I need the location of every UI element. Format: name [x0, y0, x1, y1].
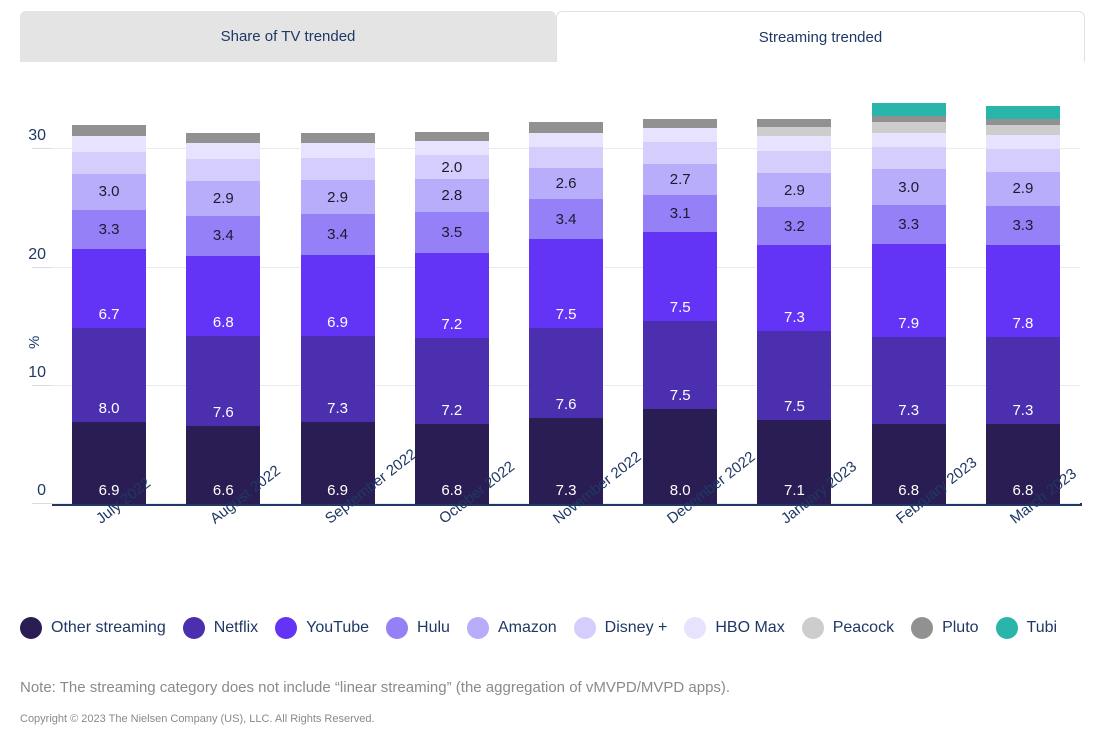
legend-item-label: HBO Max — [715, 619, 784, 637]
bar-segment-peacock[interactable] — [986, 125, 1060, 136]
bar-segment-amazon[interactable]: 2.9 — [986, 172, 1060, 206]
bar-segment-hbo-max[interactable] — [415, 141, 489, 155]
bar-segment-value: 7.5 — [556, 307, 577, 322]
bar-segment-netflix[interactable]: 7.6 — [529, 328, 603, 418]
legend-item-label: Pluto — [942, 619, 978, 637]
bar-segment-value: 6.7 — [99, 307, 120, 322]
bar-segment-value: 7.3 — [1012, 403, 1033, 418]
bar-segment-value: 3.3 — [1012, 218, 1033, 233]
plot-area: 01020306.98.06.73.33.0July 20226.67.66.8… — [52, 102, 1080, 504]
legend-swatch-icon — [183, 617, 205, 639]
bar-segment-hulu[interactable]: 3.4 — [529, 199, 603, 239]
legend-swatch-icon — [386, 617, 408, 639]
legend-item-other-streaming[interactable]: Other streaming — [20, 617, 166, 639]
legend-swatch-icon — [996, 617, 1018, 639]
legend-item-pluto[interactable]: Pluto — [911, 617, 978, 639]
legend-item-label: Disney + — [605, 619, 668, 637]
bar-segment-value: 3.2 — [784, 219, 805, 234]
bar-segment-hbo-max[interactable] — [872, 133, 946, 147]
bar-segment-pluto[interactable] — [643, 119, 717, 128]
bar-segment-value: 2.9 — [784, 183, 805, 198]
bar-segment-hbo-max[interactable] — [529, 133, 603, 147]
y-axis-title: % — [26, 336, 43, 349]
chart-container: % 01020306.98.06.73.33.0July 20226.67.66… — [0, 62, 1109, 592]
bar-stack[interactable]: 7.37.67.53.42.6 — [529, 122, 603, 504]
bar-segment-tubi[interactable] — [986, 106, 1060, 119]
legend-item-peacock[interactable]: Peacock — [802, 617, 894, 639]
bar-segment-netflix[interactable]: 7.6 — [186, 336, 260, 426]
legend-item-hulu[interactable]: Hulu — [386, 617, 450, 639]
bar-segment-hulu[interactable]: 3.3 — [986, 206, 1060, 245]
bar-segment-value: 3.0 — [99, 184, 120, 199]
bar-segment-disney[interactable] — [186, 159, 260, 181]
legend-item-label: Hulu — [417, 619, 450, 637]
bar-segment-value: 3.4 — [213, 228, 234, 243]
copyright-text: Copyright © 2023 The Nielsen Company (US… — [20, 713, 375, 725]
bar-segment-hbo-max[interactable] — [72, 136, 146, 151]
bar-segment-amazon[interactable]: 3.0 — [872, 169, 946, 204]
bar-segment-value: 3.3 — [99, 222, 120, 237]
bar-segment-youtube[interactable]: 7.5 — [643, 232, 717, 321]
legend-item-label: Netflix — [214, 619, 258, 637]
bar-segment-hulu[interactable]: 3.4 — [301, 214, 375, 254]
legend-swatch-icon — [275, 617, 297, 639]
bar-segment-pluto[interactable] — [872, 116, 946, 122]
legend-swatch-icon — [20, 617, 42, 639]
tab-label: Share of TV trended — [221, 28, 356, 45]
y-axis-tick-mark — [32, 148, 52, 149]
bar-segment-value: 3.3 — [898, 217, 919, 232]
bar-segment-value: 8.0 — [99, 401, 120, 416]
bar-segment-value: 3.5 — [441, 225, 462, 240]
bar-segment-amazon[interactable]: 2.7 — [643, 164, 717, 196]
tab-streaming-trended[interactable]: Streaming trended — [556, 11, 1085, 62]
legend-swatch-icon — [684, 617, 706, 639]
bar-segment-value: 7.6 — [556, 397, 577, 412]
legend-item-tubi[interactable]: Tubi — [996, 617, 1058, 639]
bar-segment-amazon[interactable]: 3.0 — [72, 174, 146, 209]
legend-item-hbo-max[interactable]: HBO Max — [684, 617, 784, 639]
bar-segment-value: 6.9 — [327, 315, 348, 330]
bar-stack[interactable]: 6.87.37.93.33.0 — [872, 103, 946, 504]
bar-segment-value: 2.9 — [327, 190, 348, 205]
y-axis-tick-label: 30 — [2, 127, 46, 145]
bar-segment-value: 7.5 — [784, 399, 805, 414]
y-axis-tick-label: 20 — [2, 246, 46, 264]
bar-segment-tubi[interactable] — [872, 103, 946, 116]
bar-segment-value: 7.5 — [670, 300, 691, 315]
bar-segment-hulu[interactable]: 3.5 — [415, 212, 489, 253]
bar-segment-disney[interactable] — [529, 147, 603, 168]
bar-segment-pluto[interactable] — [529, 122, 603, 133]
bar-segment-disney[interactable] — [872, 147, 946, 169]
bar-segment-amazon[interactable]: 2.6 — [529, 168, 603, 199]
bar-segment-disney[interactable] — [643, 142, 717, 163]
bar-segment-value: 7.2 — [441, 403, 462, 418]
bar-segment-netflix[interactable]: 7.5 — [757, 331, 831, 420]
bar-segment-pluto[interactable] — [301, 133, 375, 144]
bar-segment-peacock[interactable] — [757, 127, 831, 136]
bar-segment-value: 7.3 — [327, 401, 348, 416]
bar-stack[interactable]: 6.67.66.83.42.9 — [186, 133, 260, 504]
bar-segment-pluto[interactable] — [72, 125, 146, 137]
bar-segment-hulu[interactable]: 3.3 — [72, 210, 146, 249]
tab-share-of-tv-trended[interactable]: Share of TV trended — [20, 11, 556, 62]
bar-segment-amazon[interactable]: 2.9 — [757, 173, 831, 207]
tab-label: Streaming trended — [759, 29, 882, 46]
bar-segment-value: 7.6 — [213, 405, 234, 420]
bar-segment-hbo-max[interactable] — [643, 128, 717, 142]
legend-item-label: YouTube — [306, 619, 369, 637]
bar-segment-hulu[interactable]: 3.3 — [872, 205, 946, 244]
bar-segment-netflix[interactable]: 8.0 — [72, 328, 146, 423]
bar-segment-value: 2.6 — [556, 176, 577, 191]
bar-segment-netflix[interactable]: 7.5 — [643, 321, 717, 410]
bar-segment-pluto[interactable] — [415, 132, 489, 141]
bar-segment-value: 6.8 — [213, 315, 234, 330]
bar-segment-pluto[interactable] — [986, 119, 1060, 125]
legend-item-amazon[interactable]: Amazon — [467, 617, 557, 639]
bar-segment-hulu[interactable]: 3.2 — [757, 207, 831, 245]
legend-item-disney[interactable]: Disney + — [574, 617, 668, 639]
chart-legend: Other streamingNetflixYouTubeHuluAmazonD… — [0, 608, 1109, 648]
y-axis-tick-label: 0 — [2, 482, 46, 500]
legend-item-netflix[interactable]: Netflix — [183, 617, 258, 639]
bar-segment-value: 3.4 — [556, 212, 577, 227]
bar-segment-youtube[interactable]: 7.2 — [415, 253, 489, 338]
y-axis-tick-mark — [32, 385, 52, 386]
bar-segment-amazon[interactable]: 2.9 — [186, 181, 260, 215]
bar-segment-value: 2.9 — [1012, 181, 1033, 196]
legend-item-label: Other streaming — [51, 619, 166, 637]
bar-segment-disney[interactable]: 2.0 — [415, 155, 489, 179]
legend-swatch-icon — [911, 617, 933, 639]
y-axis-tick-mark — [32, 267, 52, 268]
bar-segment-disney[interactable] — [301, 158, 375, 180]
bar-segment-netflix[interactable]: 7.2 — [415, 338, 489, 423]
bar-stack[interactable]: 7.17.57.33.22.9 — [757, 119, 831, 504]
bar-segment-youtube[interactable]: 7.5 — [529, 239, 603, 328]
bar-segment-value: 7.8 — [1012, 316, 1033, 331]
bar-segment-value: 2.0 — [441, 160, 462, 175]
bar-segment-netflix[interactable]: 7.3 — [986, 337, 1060, 423]
bar-segment-hulu[interactable]: 3.1 — [643, 195, 717, 232]
bar-stack[interactable]: 6.98.06.73.33.0 — [72, 125, 146, 504]
bar-segment-youtube[interactable]: 6.7 — [72, 249, 146, 328]
legend-swatch-icon — [467, 617, 489, 639]
bar-segment-youtube[interactable]: 6.9 — [301, 255, 375, 337]
bar-segment-netflix[interactable]: 7.3 — [301, 336, 375, 422]
bar-segment-hbo-max[interactable] — [986, 135, 1060, 149]
bar-segment-youtube[interactable]: 7.3 — [757, 245, 831, 331]
legend-item-youtube[interactable]: YouTube — [275, 617, 369, 639]
bar-segment-hbo-max[interactable] — [301, 143, 375, 157]
bar-segment-value: 2.9 — [213, 191, 234, 206]
bar-segment-amazon[interactable]: 2.8 — [415, 179, 489, 212]
y-axis-tick-mark — [32, 503, 52, 504]
bar-segment-peacock[interactable] — [872, 122, 946, 133]
bar-stack[interactable]: 8.07.57.53.12.7 — [643, 119, 717, 504]
y-axis-tick-label: 10 — [2, 364, 46, 382]
bar-segment-youtube[interactable]: 7.8 — [986, 245, 1060, 337]
bar-segment-disney[interactable] — [986, 149, 1060, 171]
bar-segment-disney[interactable] — [72, 152, 146, 174]
tab-bar: Share of TV trended Streaming trended — [0, 0, 1109, 62]
bar-segment-value: 3.0 — [898, 180, 919, 195]
bar-segment-value: 3.1 — [670, 206, 691, 221]
legend-item-label: Peacock — [833, 619, 894, 637]
bar-stack[interactable]: 6.87.37.83.32.9 — [986, 106, 1060, 504]
bar-segment-pluto[interactable] — [757, 119, 831, 127]
bar-segment-value: 2.8 — [441, 188, 462, 203]
bar-segment-value: 7.3 — [898, 403, 919, 418]
bar-segment-hbo-max[interactable] — [186, 143, 260, 158]
bar-segment-value: 3.4 — [327, 227, 348, 242]
bar-segment-value: 7.2 — [441, 317, 462, 332]
bar-stack[interactable]: 6.97.36.93.42.9 — [301, 133, 375, 504]
bar-segment-disney[interactable] — [757, 151, 831, 173]
bar-segment-value: 7.9 — [898, 316, 919, 331]
bar-segment-youtube[interactable]: 6.8 — [186, 256, 260, 336]
legend-swatch-icon — [574, 617, 596, 639]
bar-segment-hbo-max[interactable] — [757, 136, 831, 150]
bar-segment-pluto[interactable] — [186, 133, 260, 144]
bar-segment-value: 2.7 — [670, 172, 691, 187]
bar-segment-value: 7.5 — [670, 388, 691, 403]
bar-segment-netflix[interactable]: 7.3 — [872, 337, 946, 423]
bar-segment-value: 7.3 — [784, 310, 805, 325]
legend-item-label: Amazon — [498, 619, 557, 637]
bar-segment-youtube[interactable]: 7.9 — [872, 244, 946, 337]
bar-segment-amazon[interactable]: 2.9 — [301, 180, 375, 214]
legend-swatch-icon — [802, 617, 824, 639]
bar-segment-hulu[interactable]: 3.4 — [186, 216, 260, 256]
legend-item-label: Tubi — [1027, 619, 1058, 637]
chart-note: Note: The streaming category does not in… — [20, 679, 730, 696]
bar-stack[interactable]: 6.87.27.23.52.82.0 — [415, 132, 489, 504]
